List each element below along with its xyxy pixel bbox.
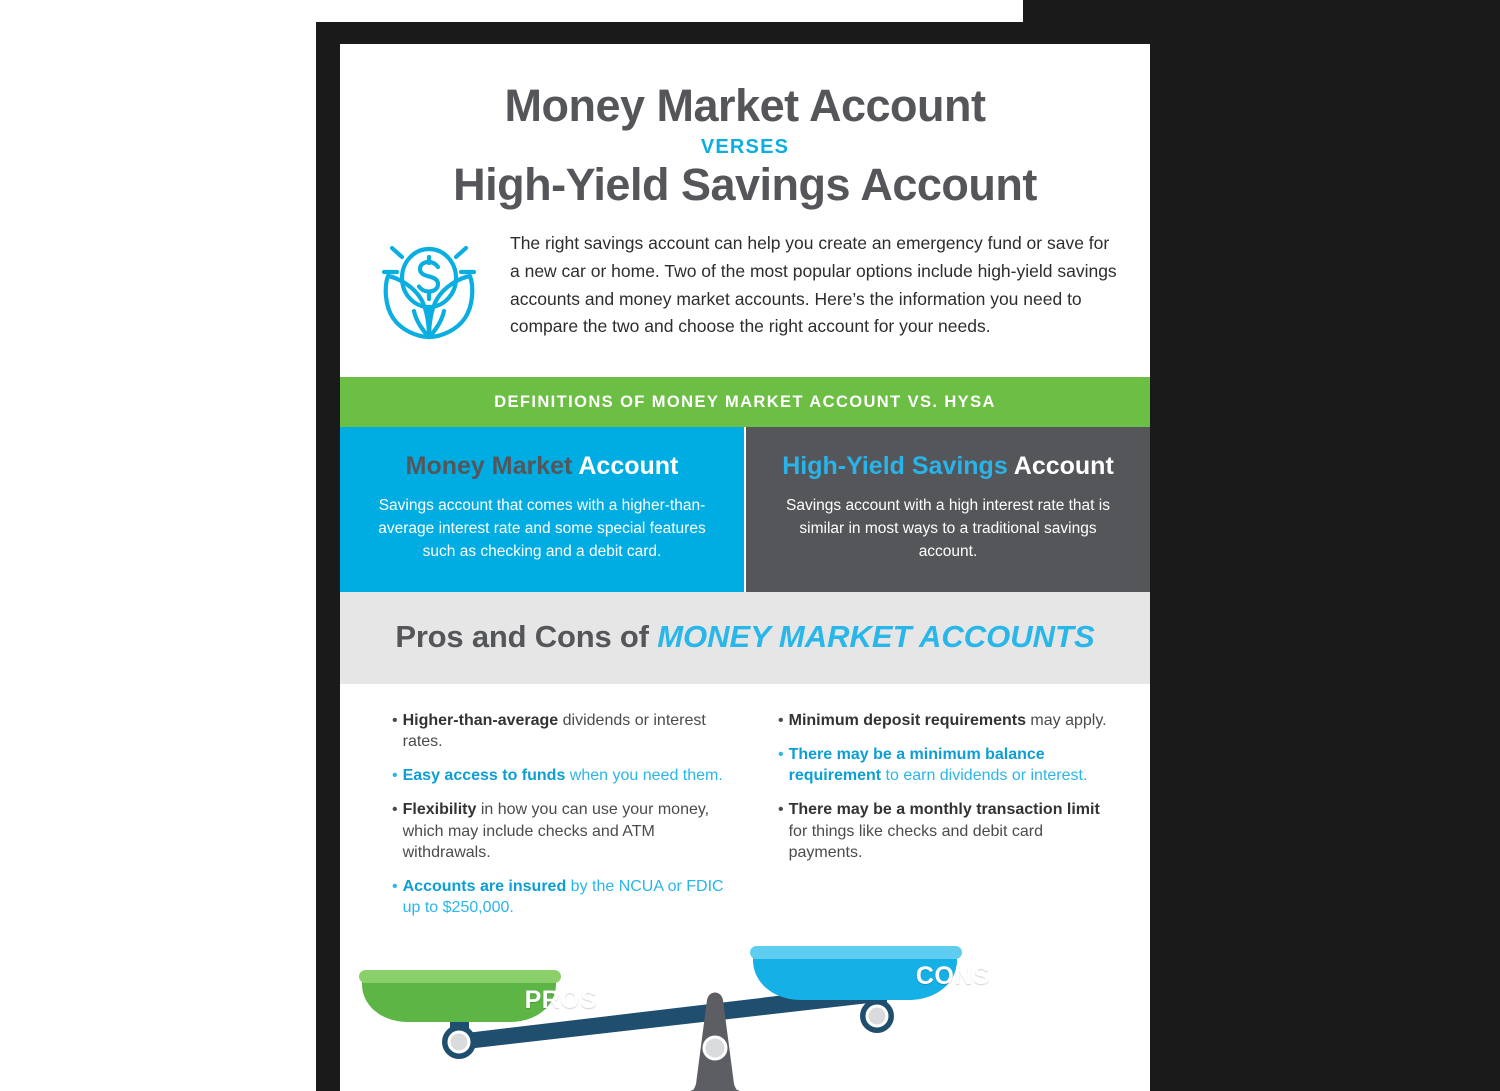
definition-card-body: Savings account with a high interest rat… xyxy=(772,494,1124,564)
definition-card-body: Savings account that comes with a higher… xyxy=(366,494,718,564)
money-plant-icon xyxy=(370,230,488,351)
pros-item-text: Easy access to funds when you need them. xyxy=(403,765,726,786)
cons-item-rest: to earn dividends or interest. xyxy=(881,767,1087,784)
pros-list: •Higher-than-average dividends or intere… xyxy=(392,710,726,932)
screen: Money Market Account VERSES High-Yield S… xyxy=(0,0,1500,1091)
title-block: Money Market Account VERSES High-Yield S… xyxy=(340,44,1150,208)
bullet-dot-icon: • xyxy=(392,765,398,786)
bullet-dot-icon: • xyxy=(778,710,784,731)
pros-item: •Higher-than-average dividends or intere… xyxy=(392,710,726,753)
pros-cons-heading-highlight: MONEY MARKET ACCOUNTS xyxy=(657,619,1094,654)
definition-card-hysa: High-Yield Savings Account Savings accou… xyxy=(746,427,1150,591)
cons-item-lead: There may be a monthly transaction limit xyxy=(789,801,1100,818)
page-title-verses: VERSES xyxy=(370,136,1120,159)
definition-card-heading: Money Market Account xyxy=(366,453,718,481)
pros-cons-heading: Pros and Cons of MONEY MARKET ACCOUNTS xyxy=(350,619,1140,655)
bullet-dot-icon: • xyxy=(778,744,784,787)
definition-heading-primary: High-Yield Savings xyxy=(782,452,1014,480)
cons-pan-label: CONS xyxy=(898,962,1008,991)
pros-item-lead: Easy access to funds xyxy=(403,767,566,784)
definitions-banner: DEFINITIONS OF MONEY MARKET ACCOUNT VS. … xyxy=(340,377,1150,427)
pros-item-text: Higher-than-average dividends or interes… xyxy=(403,710,726,753)
cons-item-rest: for things like checks and debit card pa… xyxy=(789,823,1043,861)
pros-cons-heading-band: Pros and Cons of MONEY MARKET ACCOUNTS xyxy=(340,592,1150,684)
desktop-backdrop-top xyxy=(1023,0,1500,22)
pros-item-text: Accounts are insured by the NCUA or FDIC… xyxy=(403,876,726,919)
pros-cons-heading-plain: Pros and Cons of xyxy=(395,619,657,654)
pros-item: •Flexibility in how you can use your mon… xyxy=(392,799,726,863)
cons-item-text: There may be a monthly transaction limit… xyxy=(789,799,1112,863)
pros-item-rest: when you need them. xyxy=(565,767,722,784)
cons-item-lead: Minimum deposit requirements xyxy=(789,712,1026,729)
definition-card-money-market: Money Market Account Savings account tha… xyxy=(340,427,744,591)
cons-item-rest: may apply. xyxy=(1026,712,1107,729)
pros-item-lead: Flexibility xyxy=(403,801,477,818)
intro-paragraph: The right savings account can help you c… xyxy=(510,230,1120,341)
cons-item: •There may be a minimum balance requirem… xyxy=(778,744,1112,787)
definition-heading-secondary: Account xyxy=(578,452,678,480)
pros-item: •Accounts are insured by the NCUA or FDI… xyxy=(392,876,726,919)
definition-heading-secondary: Account xyxy=(1014,452,1114,480)
cons-item-text: Minimum deposit requirements may apply. xyxy=(789,710,1112,731)
page-title-line1: Money Market Account xyxy=(370,82,1120,130)
page-title-line2: High-Yield Savings Account xyxy=(370,161,1120,209)
bullet-dot-icon: • xyxy=(392,799,398,863)
infographic-page: Money Market Account VERSES High-Yield S… xyxy=(340,44,1150,1091)
bullet-dot-icon: • xyxy=(778,799,784,863)
cons-item: •Minimum deposit requirements may apply. xyxy=(778,710,1112,731)
cons-list: •Minimum deposit requirements may apply.… xyxy=(778,710,1112,932)
pros-item-lead: Accounts are insured xyxy=(403,878,567,895)
pros-item: •Easy access to funds when you need them… xyxy=(392,765,726,786)
pros-cons-columns: •Higher-than-average dividends or intere… xyxy=(340,684,1150,932)
bullet-dot-icon: • xyxy=(392,876,398,919)
pros-item-lead: Higher-than-average xyxy=(403,712,559,729)
bullet-dot-icon: • xyxy=(392,710,398,753)
cons-item: •There may be a monthly transaction limi… xyxy=(778,799,1112,863)
pros-pan-label: PROS xyxy=(506,986,616,1015)
cons-pan-rim xyxy=(750,946,962,959)
cons-item-text: There may be a minimum balance requireme… xyxy=(789,744,1112,787)
pros-joint-knob xyxy=(449,1032,469,1052)
definition-heading-primary: Money Market xyxy=(406,452,579,480)
balance-scale-illustration: PROS CONS xyxy=(340,938,1150,1091)
pros-item-text: Flexibility in how you can use your mone… xyxy=(403,799,726,863)
cons-joint-knob xyxy=(867,1006,887,1026)
intro-section: The right savings account can help you c… xyxy=(340,208,1150,351)
definition-card-heading: High-Yield Savings Account xyxy=(772,453,1124,481)
pros-pan-rim xyxy=(359,970,561,983)
definitions-row: Money Market Account Savings account tha… xyxy=(340,427,1150,591)
